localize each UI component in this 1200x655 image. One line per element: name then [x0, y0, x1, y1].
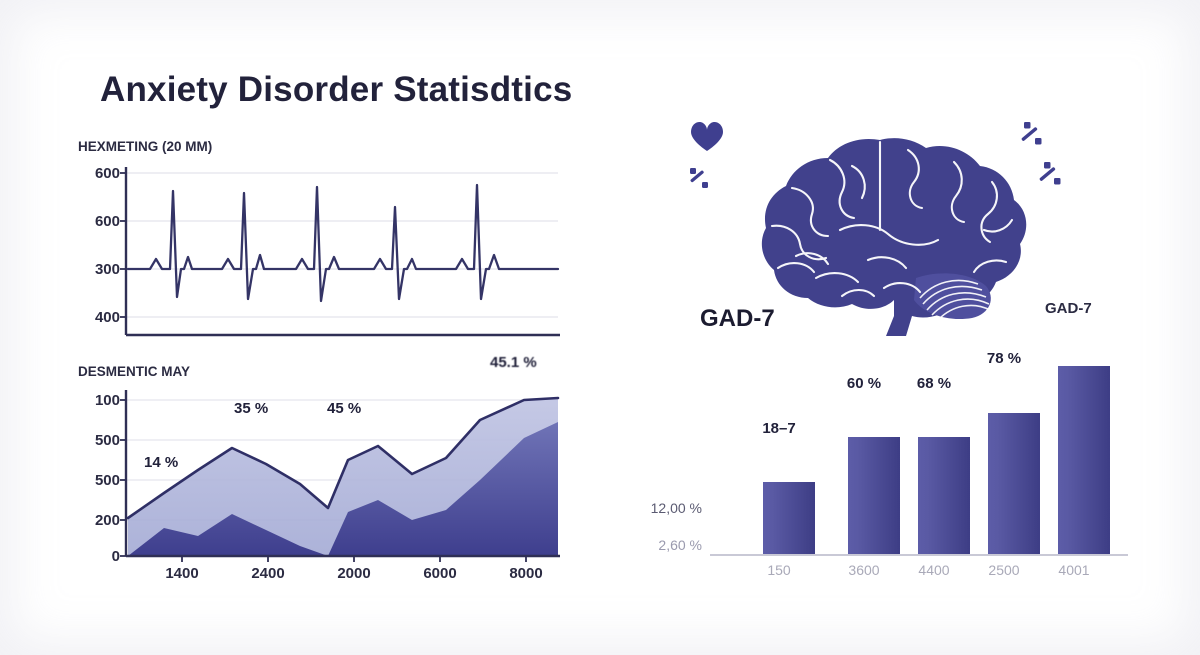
area-y-tick-2: 500 [70, 472, 120, 489]
area-x-tick-3: 6000 [400, 565, 480, 582]
bar-y-tick-1: 2,60 % [622, 537, 702, 553]
area-x-tick-2: 2000 [314, 565, 394, 582]
ecg-y-tick-3: 400 [70, 309, 120, 326]
bar-3 [988, 413, 1040, 555]
bar-y-tick-0: 12,00 % [622, 500, 702, 516]
percent-mark-icon [1039, 162, 1060, 185]
infographic-canvas: Anxiety Disorder Statisdtics HEXMETING (… [0, 0, 1200, 655]
area-y-tick-0: 100 [70, 392, 120, 409]
bar-label-0: 18–7 [733, 420, 825, 437]
bar-4 [1058, 366, 1110, 555]
ecg-chart-caption: HEXMETING (20 MM) [78, 139, 212, 154]
area-annotation-0: 14 % [144, 454, 178, 471]
area-y-tick-1: 500 [70, 432, 120, 449]
bar-label-3: 78 % [958, 350, 1050, 367]
page-title: Anxiety Disorder Statisdtics [100, 70, 572, 110]
area-annotation-1: 35 % [234, 400, 268, 417]
area-chart-caption: DESMENTIC MAY [78, 364, 190, 379]
brain-and-bar-panel: GAD-7 GAD-7 18–7 60 % 68 % 78 [640, 100, 1170, 600]
percent-mark-icon [690, 168, 708, 188]
area-chart-svg [78, 360, 568, 595]
area-y-tick-4: 0 [70, 548, 120, 565]
ecg-y-tick-1: 600 [70, 213, 120, 230]
area-x-tick-0: 1400 [142, 565, 222, 582]
bar-x-tick-0: 150 [737, 562, 821, 578]
area-annotation-2: 45 % [327, 400, 361, 417]
area-chart-panel: DESMENTIC MAY 100 500 500 200 0 14 % 35 … [78, 360, 568, 595]
bar-2 [918, 437, 970, 555]
area-annotation-3: 45.1 % [490, 354, 537, 371]
bar-label-2: 68 % [888, 375, 980, 392]
ecg-chart-panel: HEXMETING (20 MM) 600 600 300 400 [78, 135, 568, 345]
bar-0 [763, 482, 815, 555]
ecg-chart-svg [78, 135, 568, 345]
ecg-y-tick-0: 600 [70, 165, 120, 182]
brain-icon [762, 138, 1026, 336]
area-x-tick-4: 8000 [486, 565, 566, 582]
ecg-y-tick-2: 300 [70, 261, 120, 278]
gad7-legend-label: GAD-7 [1045, 300, 1092, 317]
heart-icon [691, 122, 723, 151]
bar-1 [848, 437, 900, 555]
area-y-tick-3: 200 [70, 512, 120, 529]
bar-x-tick-4: 4001 [1032, 562, 1116, 578]
area-x-tick-1: 2400 [228, 565, 308, 582]
percent-mark-icon [1021, 122, 1041, 145]
bar-chart-svg [650, 325, 1140, 595]
ecg-waveform-line [128, 185, 558, 301]
